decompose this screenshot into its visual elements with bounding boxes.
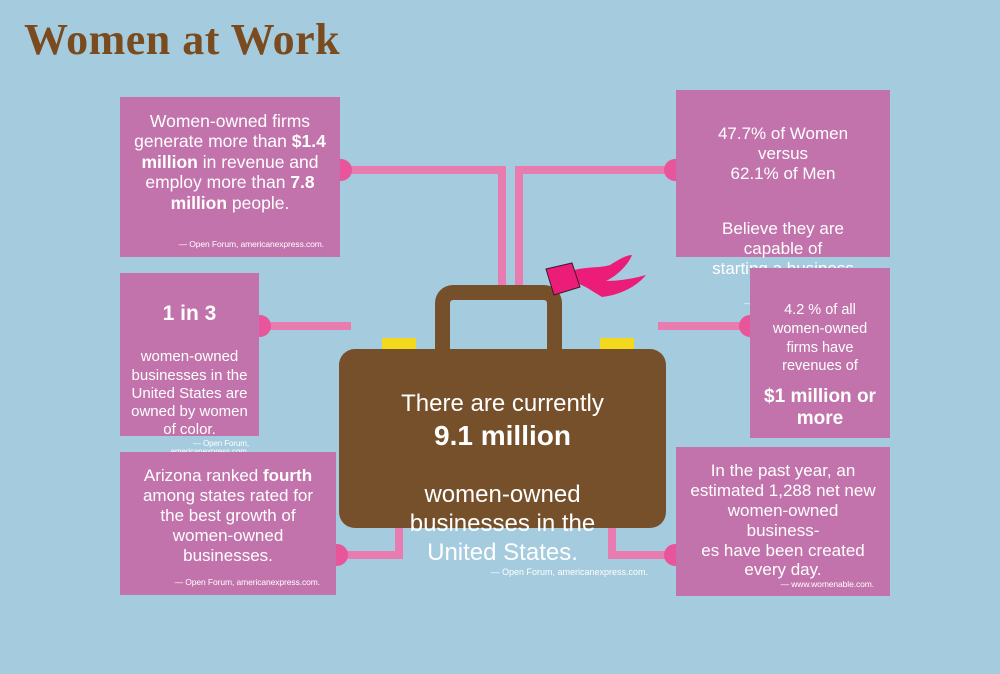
fact-box-mid-left: 1 in 3 women-owned businesses in the Uni… [120,273,259,436]
briefcase-body-panel: There are currently 9.1 million women-ow… [339,349,666,528]
ml-lead: 1 in 3 [128,301,251,327]
center-line-2: women-owned businesses in the United Sta… [410,481,595,566]
source-top-left: — Open Forum, americanexpress.com. [134,240,326,253]
briefcase-icon: There are currently 9.1 million women-ow… [339,285,666,528]
bl-suffix: among states rated for the best growth o… [143,486,313,565]
center-big-number: 9.1 million [357,419,648,453]
infographic-canvas: Women at Work Women-owned firms generate… [0,0,1000,674]
fact-text-top-left: Women-owned firms generate more than $1.… [134,111,326,240]
source-bottom-right: — www.womenable.com. [690,580,876,593]
tl-prefix: Women-owned firms generate more than [134,111,310,151]
fact-box-bottom-left: Arizona ranked fourth among states rated… [120,452,336,595]
fact-text-mid-right: 4.2 % of all women-owned firms have reve… [756,282,884,449]
center-source: — Open Forum, americanexpress.com. [357,567,648,579]
fact-text-bottom-left: Arizona ranked fourth among states rated… [134,466,322,578]
fact-box-top-right: 47.7% of Women versus 62.1% of Men Belie… [676,90,890,257]
mr-body: 4.2 % of all women-owned firms have reve… [773,302,867,375]
fact-box-mid-right: 4.2 % of all women-owned firms have reve… [750,268,890,438]
fact-text-mid-left: 1 in 3 women-owned businesses in the Uni… [128,283,251,440]
fact-text-bottom-right: In the past year, an estimated 1,288 net… [690,461,876,580]
bl-prefix: Arizona ranked [144,466,263,485]
hand-icon [540,255,658,317]
mr-emphasis: $1 million or more [756,386,884,430]
fact-box-top-left: Women-owned firms generate more than $1.… [120,97,340,257]
tr-stat-lines: 47.7% of Women versus 62.1% of Men [690,124,876,184]
center-line-1: There are currently [401,390,604,417]
tl-suffix: people. [227,193,289,213]
source-bottom-left: — Open Forum, americanexpress.com. [134,578,322,591]
center-statement: There are currently 9.1 million women-ow… [357,361,648,567]
fact-box-bottom-right: In the past year, an estimated 1,288 net… [676,447,890,596]
ml-body: women-owned businesses in the United Sta… [131,348,248,438]
bl-bold: fourth [263,466,312,485]
page-title: Women at Work [24,14,340,65]
